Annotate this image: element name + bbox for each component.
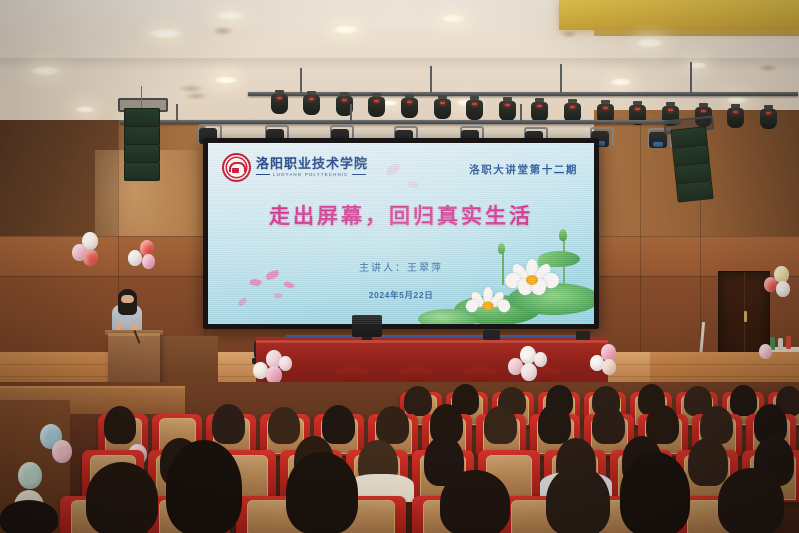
audience-member-icon	[86, 462, 158, 533]
speaker-hang-wire	[141, 86, 142, 108]
balloon-cluster-icon	[128, 250, 142, 266]
ceiling-step-shadow	[0, 58, 799, 70]
balloon-cluster-icon	[279, 356, 292, 371]
lotus-flower-icon	[504, 259, 560, 299]
par-can-light-icon	[401, 98, 418, 118]
par-can-light-icon	[727, 108, 744, 128]
truss-drop-wire	[520, 104, 522, 122]
audience-member-icon	[286, 452, 358, 533]
downlight-icon	[214, 76, 238, 84]
truss-drop-wire	[300, 68, 302, 94]
audience-member-icon	[212, 404, 245, 444]
institution-name-en-row: LUOYANG POLYTECHNIC	[256, 172, 368, 177]
auditorium-photo: 洛阳职业技术学院 LUOYANG POLYTECHNIC 洛职大讲堂第十二期 走…	[0, 0, 799, 533]
ceiling-vent-icon	[758, 64, 778, 72]
ceiling-cove-accent-secondary	[594, 26, 799, 36]
falling-petal-icon	[407, 179, 419, 190]
falling-petal-icon	[385, 163, 401, 176]
led-stage-screen[interactable]: 洛阳职业技术学院 LUOYANG POLYTECHNIC 洛职大讲堂第十二期 走…	[203, 138, 599, 329]
lotus-center-icon	[482, 301, 493, 310]
downlight-icon	[30, 66, 60, 76]
institution-name-cn: 洛阳职业技术学院	[256, 158, 368, 172]
panel-diamond-motif	[332, 365, 372, 382]
downlight-icon	[75, 106, 95, 113]
falling-petal-icon	[249, 277, 262, 287]
truss-drop-wire	[690, 62, 692, 94]
lotus-bud-icon	[559, 229, 567, 241]
screen-surface: 洛阳职业技术学院 LUOYANG POLYTECHNIC 洛职大讲堂第十二期 走…	[208, 143, 594, 324]
speaker-module	[124, 108, 160, 127]
panel-diamond-motif	[460, 365, 500, 382]
par-can-light-icon	[760, 109, 777, 129]
stage-speaker-box-icon	[483, 330, 500, 340]
audience-member-icon	[718, 468, 784, 533]
school-name-block: 洛阳职业技术学院 LUOYANG POLYTECHNIC	[256, 158, 368, 178]
lotus-bud-icon	[498, 243, 505, 254]
speaker-module	[124, 162, 160, 181]
truss-drop-wire	[350, 104, 352, 122]
audience-member-icon	[546, 466, 610, 533]
downlight-icon	[636, 38, 664, 48]
audience-member-icon	[620, 452, 690, 533]
line-array-speaker-icon	[124, 108, 158, 182]
par-can-light-icon	[434, 99, 451, 119]
par-can-light-icon	[466, 100, 483, 120]
par-can-light-icon	[271, 94, 288, 114]
panel-diamond-motif	[396, 365, 436, 382]
wall-seam-vertical	[640, 120, 641, 380]
ceiling-vent-icon	[184, 92, 208, 100]
institution-name-en: LUOYANG POLYTECHNIC	[273, 172, 349, 177]
balloon-cluster-icon	[759, 344, 772, 359]
downlight-icon	[726, 96, 748, 104]
audience-member-icon	[538, 404, 571, 444]
lecture-series-label: 洛职大讲堂第十二期	[469, 162, 578, 177]
school-logo: 洛阳职业技术学院 LUOYANG POLYTECHNIC	[222, 153, 368, 182]
audience-member-icon	[0, 500, 58, 533]
stage-speaker-box-icon	[576, 331, 590, 340]
downlight-icon	[148, 28, 182, 39]
truss-drop-wire	[176, 104, 178, 122]
water-bottle-icon	[786, 336, 791, 349]
school-seal-icon	[222, 153, 251, 182]
par-can-light-icon	[303, 95, 320, 115]
ceiling-vent-icon	[212, 26, 234, 36]
lotus-flower-icon	[466, 287, 511, 319]
moving-head-light-icon	[649, 132, 667, 148]
line-array-speaker-icon	[670, 126, 712, 203]
audience-member-icon	[440, 470, 510, 533]
ceiling-vent-icon	[560, 30, 578, 38]
audience-member-icon	[268, 407, 300, 444]
door-handle-icon[interactable]	[744, 311, 747, 322]
water-bottle-icon	[778, 338, 783, 351]
audience-member-icon	[688, 438, 728, 486]
audience-member-icon	[166, 440, 242, 533]
par-can-light-icon	[499, 101, 516, 121]
balloon-cluster-icon	[142, 254, 155, 269]
balloon-cluster-icon	[83, 249, 98, 266]
balloon-cluster-icon	[776, 281, 790, 297]
audience-member-icon	[376, 406, 409, 444]
presentation-title: 走出屏幕，回归真实生活	[208, 200, 594, 230]
balloon-cluster-icon	[602, 359, 616, 375]
lotus-center-icon	[526, 275, 538, 285]
balloon-cluster-icon	[52, 440, 72, 463]
balloon-cluster-icon	[534, 352, 547, 367]
balloon-cluster-icon	[521, 363, 537, 381]
downlight-icon	[440, 14, 466, 23]
downlight-icon	[610, 78, 632, 86]
audience-member-icon	[730, 385, 757, 416]
downlight-icon	[214, 10, 246, 21]
monitor-stand-icon	[362, 337, 372, 340]
audience-member-icon	[592, 406, 625, 444]
audience-member-icon	[404, 386, 432, 416]
speaker-module	[124, 126, 160, 145]
par-can-light-icon	[368, 97, 385, 117]
rule-left	[256, 174, 270, 175]
speaker-module	[124, 144, 160, 163]
par-can-light-icon	[531, 102, 548, 122]
audience-member-icon	[484, 406, 517, 444]
presenter-hair	[118, 289, 137, 315]
truss-drop-wire	[430, 66, 432, 94]
truss-drop-wire	[560, 64, 562, 94]
rule-right	[352, 174, 366, 175]
speaker-module	[676, 180, 714, 203]
monitor-icon	[352, 315, 382, 337]
downlight-icon	[333, 25, 359, 34]
audience-member-icon	[104, 406, 136, 444]
lighting-truss-icon	[248, 92, 798, 96]
stage-bench	[160, 336, 218, 388]
audience-member-icon	[322, 405, 355, 444]
balloon-cluster-icon	[18, 462, 42, 489]
